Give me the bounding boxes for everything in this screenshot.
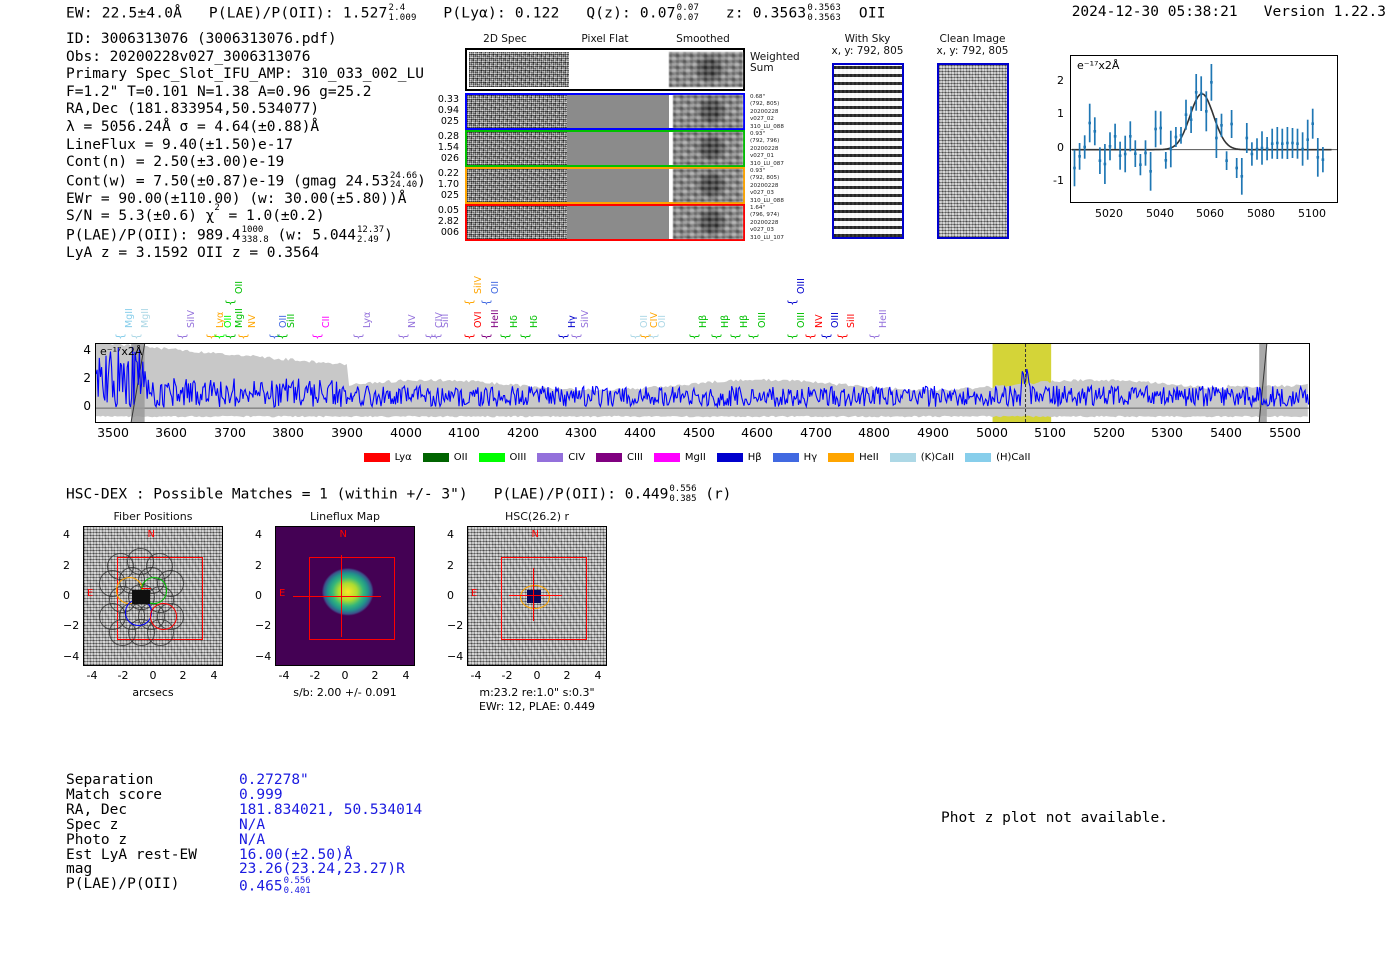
- legend-label: OIII: [510, 452, 527, 463]
- ws-pixelflat-image: [572, 50, 667, 89]
- spectrum-x-tick: 5400: [1210, 425, 1242, 440]
- fiber-num: 025: [425, 116, 459, 127]
- panel-x-tick: 4: [595, 669, 602, 682]
- panel-title: Lineflux Map: [275, 510, 415, 523]
- z-class: OII: [859, 6, 886, 22]
- table-row: Est LyA rest-EW16.00(±2.50)Å: [66, 848, 422, 863]
- line-marker-brace: {: [557, 333, 570, 340]
- fiber-weight: 0.33: [425, 94, 459, 105]
- spectrum-x-tick: 3800: [272, 425, 304, 440]
- fiber-meta-line: 310_LU_107: [750, 235, 810, 242]
- col-header-2dspec: 2D Spec: [460, 33, 550, 45]
- legend-swatch: [965, 453, 991, 462]
- fiber-smoothed-image: [673, 169, 743, 202]
- info-cont-w: Cont(w) = 7.50(±0.87)e-19 (gmag 24.5324.…: [66, 172, 426, 191]
- legend-item: OII: [423, 452, 468, 463]
- fiber-meta-line: 310_LU_088: [750, 198, 810, 205]
- plae-poii-value: 1.527: [343, 6, 388, 22]
- line-marker-label: CII: [321, 316, 332, 328]
- fiber-2dspec-image: [467, 132, 567, 165]
- qz-range: 0.070.07: [677, 4, 699, 23]
- panel-x-tick: -4: [279, 669, 290, 682]
- spectrum-x-tick: 4100: [448, 425, 480, 440]
- fiber-pixelflat-image: [567, 95, 669, 128]
- match-key: Match score: [66, 788, 197, 803]
- line-marker-label: Lyα: [362, 312, 373, 328]
- legend-swatch: [423, 453, 449, 462]
- line-marker-label: SiII: [846, 314, 857, 328]
- qz-value: 0.07: [640, 6, 676, 22]
- line-marker-brace: {: [747, 333, 760, 340]
- legend-item: CIV: [537, 452, 585, 463]
- line-marker-brace: {: [647, 333, 660, 340]
- compass-east: E: [87, 588, 93, 599]
- spectrum-x-tick: 4600: [741, 425, 773, 440]
- spectrum-xticks: 3500360037003800390040004100420043004400…: [95, 425, 1310, 443]
- cutout-panel: With Skyx, y: 792, 805: [820, 33, 915, 57]
- spectrum-x-tick: 5000: [976, 425, 1008, 440]
- line-marker-label: Hβ: [720, 315, 731, 328]
- match-key: Est LyA rest-EW: [66, 848, 197, 863]
- sky-image-panel: Lineflux MapNE-4−4-2−2002244s/b: 2.00 +/…: [247, 510, 427, 523]
- crosshair-h: [509, 595, 561, 596]
- info-primary-spec: Primary Spec_Slot_IFU_AMP: 310_033_002_L…: [66, 66, 426, 84]
- fiber-smoothed-image: [673, 206, 743, 239]
- hscdex-plae-range: 0.5560.385: [669, 485, 696, 504]
- match-value: 0.4650.5560.401: [197, 877, 422, 896]
- fiber-smoothed-image: [673, 95, 743, 128]
- line-marker-brace: {: [237, 333, 250, 340]
- line-zoom-axes: e⁻¹⁷x2Å: [1070, 55, 1338, 203]
- fiber-weight: 0.28: [425, 131, 459, 142]
- legend-swatch: [537, 453, 563, 462]
- x-tick-label: 5020: [1095, 207, 1123, 220]
- panel-x-tick: -4: [471, 669, 482, 682]
- legend-label: Hγ: [804, 452, 817, 463]
- y-tick-label: 1: [1057, 107, 1064, 120]
- line-marker-brace: {: [519, 333, 532, 340]
- panel-y-tick: −2: [63, 619, 79, 632]
- info-lambda-sigma: λ = 5056.24Å σ = 4.64(±0.88)Å: [66, 119, 426, 137]
- line-marker-label: MgII: [234, 308, 245, 328]
- line-marker-label: SiII: [440, 314, 451, 328]
- spectrum-x-tick: 4500: [683, 425, 715, 440]
- compass-north: N: [531, 529, 538, 540]
- line-marker-brace: {: [430, 333, 443, 340]
- line-marker-label: OII: [223, 315, 234, 328]
- line-marker-brace: {: [820, 333, 833, 340]
- match-key: RA, Dec: [66, 803, 197, 818]
- line-marker-brace: {: [710, 333, 723, 340]
- legend-swatch: [890, 453, 916, 462]
- panel-x-tick: 0: [342, 669, 349, 682]
- fiber-meta-line: (792, 805): [750, 175, 810, 182]
- spectrum-x-tick: 4300: [565, 425, 597, 440]
- legend-item: Hγ: [773, 452, 817, 463]
- line-zoom-svg: [1071, 56, 1337, 202]
- line-marker-label: OIII: [757, 312, 768, 328]
- fiber-meta-line: (796, 974): [750, 212, 810, 219]
- line-marker-brace: {: [804, 333, 817, 340]
- sky-image-panel: Fiber PositionsNE-4−4-2−2002244arcsecs: [55, 510, 235, 523]
- source-blob: [527, 590, 541, 602]
- y-tick-label: -1: [1053, 174, 1064, 187]
- compass-east: E: [279, 588, 285, 599]
- cutout-panels: With Skyx, y: 792, 805Clean Imagex, y: 7…: [820, 33, 1030, 248]
- panel-x-tick: -2: [118, 669, 129, 682]
- hscdex-plae-label: P(LAE)/P(OII):: [494, 487, 616, 503]
- spectrum-x-tick: 5200: [1093, 425, 1125, 440]
- image-panels: Fiber PositionsNE-4−4-2−2002244arcsecsLi…: [55, 510, 635, 725]
- spectrum-x-tick: 4000: [390, 425, 422, 440]
- line-marker-label: SiII: [286, 314, 297, 328]
- ws-2dspec-image: [469, 52, 569, 87]
- legend-label: MgII: [685, 452, 706, 463]
- fiber-meta-line: 1.64": [750, 205, 810, 212]
- match-key: P(LAE)/P(OII): [66, 877, 197, 896]
- spectrum-x-tick: 3700: [214, 425, 246, 440]
- legend-item: Lyα: [364, 452, 412, 463]
- match-value: N/A: [197, 818, 422, 833]
- fiber-row: [465, 167, 745, 204]
- line-marker-label: OIII: [796, 312, 807, 328]
- line-marker-brace: {: [397, 333, 410, 340]
- line-marker-label: OVI: [473, 311, 484, 328]
- fiber-2dspec-image: [467, 169, 567, 202]
- spectrum-x-tick: 3500: [97, 425, 129, 440]
- info-id: ID: 3006313076 (3006313076.pdf): [66, 31, 426, 49]
- info-sn-chi2: S/N = 5.3(±0.6) χ2 = 1.0(±0.2): [66, 208, 426, 226]
- panel-axes: NE: [467, 526, 607, 666]
- legend-swatch: [717, 453, 743, 462]
- legend-label: Lyα: [395, 452, 412, 463]
- fiber-meta-line: v027_03: [750, 227, 810, 234]
- spectrum-x-tick: 3900: [331, 425, 363, 440]
- table-row: Spec zN/A: [66, 818, 422, 833]
- table-row: Match score0.999: [66, 788, 422, 803]
- spectrum-x-tick: 5500: [1269, 425, 1301, 440]
- match-key: Photo z: [66, 833, 197, 848]
- full-spectrum-panel: {MgII{MgII{SiIV{Lyα{OII{MgII{OII{NV{OII{…: [95, 275, 1310, 470]
- legend-swatch: [654, 453, 680, 462]
- legend-swatch: [773, 453, 799, 462]
- fiber-meta-line: 310_LU_087: [750, 161, 810, 168]
- legend-label: CIII: [627, 452, 643, 463]
- z-label: z:: [726, 6, 744, 22]
- panel-x-tick: 2: [564, 669, 571, 682]
- fiber-weights: 0.221.70025: [425, 168, 459, 201]
- spectrum-y-tick: 4: [83, 343, 91, 357]
- panel-y-tick: 0: [255, 589, 262, 602]
- version-label: Version 1.22.3: [1264, 4, 1386, 20]
- line-marker-label: OII: [657, 315, 668, 328]
- fiber-flux: 1.54: [425, 142, 459, 153]
- line-marker-label: OIII: [830, 312, 841, 328]
- line-zoom-yticks: -1012: [1040, 55, 1068, 203]
- panel-y-tick: −2: [447, 619, 463, 632]
- fiber-2dspec-image: [467, 95, 567, 128]
- fiber-flux: 1.70: [425, 179, 459, 190]
- z-range: 0.35630.3563: [807, 4, 841, 23]
- match-table: Separation0.27278"Match score0.999RA, De…: [66, 773, 422, 896]
- fiber-meta-line: 20200228: [750, 183, 810, 190]
- fiber-meta-line: v027_03: [750, 190, 810, 197]
- fiber-num: 025: [425, 190, 459, 201]
- info-params: F=1.2" T=0.101 N=1.38 A=0.96 g=25.2: [66, 84, 426, 102]
- line-marker-label: SiIV: [186, 310, 197, 328]
- line-marker-label: SiIV: [580, 310, 591, 328]
- match-value: 16.00(±2.50)Å: [197, 848, 422, 863]
- spectrum-x-tick: 4400: [624, 425, 656, 440]
- fiber-weight: 0.22: [425, 168, 459, 179]
- plae-poii-range: 2.41.009: [389, 4, 417, 23]
- fiber-flux: 0.94: [425, 105, 459, 116]
- line-marker-label: MgII: [124, 308, 135, 328]
- line-marker-brace: {: [176, 333, 189, 340]
- line-marker-label: MgII: [140, 308, 151, 328]
- line-marker-brace: {: [463, 333, 476, 340]
- line-marker-label: NV: [814, 314, 825, 328]
- fiber-meta-line: v027_01: [750, 153, 810, 160]
- line-marker-brace: {: [570, 333, 583, 340]
- panel-x-tick: 0: [150, 669, 157, 682]
- fiber-meta-line: 0.93": [750, 168, 810, 175]
- line-zoom-plot: e⁻¹⁷x2Å -1012 50205040506050805100: [1040, 55, 1340, 227]
- fiber-weights: 0.281.54026: [425, 131, 459, 164]
- spectrum-axes: e⁻¹⁷x2Å: [95, 343, 1310, 423]
- fiber-flux: 2.82: [425, 216, 459, 227]
- cutout-subtitle: x, y: 792, 805: [925, 45, 1020, 57]
- line-marker-brace: {: [786, 299, 799, 306]
- panel-x-tick: 2: [180, 669, 187, 682]
- table-row: mag23.26(23.24,23.27)R: [66, 862, 422, 877]
- line-marker-label: NV: [407, 314, 418, 328]
- legend-label: OII: [454, 452, 468, 463]
- match-value: 181.834021, 50.534014: [197, 803, 422, 818]
- crosshair-h: [141, 588, 151, 589]
- legend-item: (H)CaII: [965, 452, 1030, 463]
- z-value: 0.3563: [753, 6, 807, 22]
- fiber-metadata: 0.93"(792, 805)20200228v027_03310_LU_088: [750, 168, 810, 205]
- line-marker-label: OII: [234, 281, 245, 294]
- x-tick-label: 5080: [1247, 207, 1275, 220]
- spectrum-x-tick: 4700: [800, 425, 832, 440]
- fiber-2dspec-image: [467, 206, 567, 239]
- spectrum-x-tick: 4900: [917, 425, 949, 440]
- legend-label: (K)CaII: [921, 452, 954, 463]
- info-redshifts: LyA z = 3.1592 OII z = 0.3564: [66, 245, 426, 263]
- table-row: Photo zN/A: [66, 833, 422, 848]
- fiber-meta-line: 310_LU_088: [750, 124, 810, 131]
- y-tick-label: 2: [1057, 74, 1064, 87]
- plya-label: P(Lyα):: [443, 6, 506, 22]
- panel-y-tick: −4: [447, 650, 463, 663]
- legend-item: HeII: [828, 452, 879, 463]
- panel-xlabel: s/b: 2.00 +/- 0.091: [275, 686, 415, 699]
- line-marker-label: Hδ: [529, 315, 540, 328]
- legend-item: OIII: [479, 452, 527, 463]
- panel-y-tick: 2: [447, 559, 454, 572]
- cutout-title: Clean Image: [925, 33, 1020, 45]
- spectrum-x-tick: 5100: [1034, 425, 1066, 440]
- line-marker-brace: {: [480, 333, 493, 340]
- info-radec: RA,Dec (181.833954,50.534077): [66, 101, 426, 119]
- photz-note: Phot z plot not available.: [941, 810, 1168, 826]
- x-tick-label: 5040: [1146, 207, 1174, 220]
- summary-line: EW: 22.5±4.0Å P(LAE)/P(OII): 1.5272.41.0…: [66, 4, 886, 23]
- panel-x-tick: 0: [534, 669, 541, 682]
- line-marker-brace: {: [688, 333, 701, 340]
- line-zoom-xticks: 50205040506050805100: [1070, 205, 1338, 225]
- fiber-pixelflat-image: [567, 132, 669, 165]
- legend-swatch: [828, 453, 854, 462]
- legend-swatch: [479, 453, 505, 462]
- table-row: RA, Dec181.834021, 50.534014: [66, 803, 422, 818]
- table-row: P(LAE)/P(OII)0.4650.5560.401: [66, 877, 422, 896]
- match-key: mag: [66, 862, 197, 877]
- fiber-weights: 0.052.82006: [425, 205, 459, 238]
- fiber-smoothed-image: [673, 132, 743, 165]
- line-marker-brace: {: [836, 333, 849, 340]
- legend-item: MgII: [654, 452, 706, 463]
- fiber-weight: 0.05: [425, 205, 459, 216]
- match-key: Spec z: [66, 818, 197, 833]
- qz-label: Q(z):: [586, 6, 631, 22]
- source-info-block: ID: 3006313076 (3006313076.pdf) Obs: 202…: [66, 31, 426, 263]
- panel-y-tick: 2: [255, 559, 262, 572]
- cutout-panel: Clean Imagex, y: 792, 805: [925, 33, 1020, 57]
- timestamp: 2024-12-30 05:38:21: [1072, 4, 1238, 20]
- spectrum-x-tick: 5300: [1151, 425, 1183, 440]
- line-marker-brace: {: [352, 333, 365, 340]
- fiber-meta-line: v027_02: [750, 116, 810, 123]
- fiber-meta-line: 0.93": [750, 131, 810, 138]
- legend-label: HeII: [859, 452, 879, 463]
- panel-y-tick: −4: [255, 650, 271, 663]
- panel-y-tick: −4: [63, 650, 79, 663]
- panel-title: HSC(26.2) r: [467, 510, 607, 523]
- hscdex-plae-band: (r): [705, 487, 731, 503]
- aperture-box: [309, 557, 395, 640]
- cutout-image: [832, 63, 904, 239]
- legend-label: (H)CaII: [996, 452, 1030, 463]
- match-value: 0.999: [197, 788, 422, 803]
- panel-x-tick: -2: [502, 669, 513, 682]
- line-marker-label: Hγ: [567, 315, 578, 328]
- panel-y-tick: 4: [63, 528, 70, 541]
- spectrum-y-tick: 2: [83, 371, 91, 385]
- line-marker-label: HeII: [878, 309, 889, 328]
- legend-swatch: [596, 453, 622, 462]
- legend-swatch: [364, 453, 390, 462]
- line-marker-brace: {: [786, 333, 799, 340]
- fiber-rows: 0.330.940250.68"(792, 805)20200228v027_0…: [465, 93, 755, 243]
- line-marker-brace: {: [480, 299, 493, 306]
- line-marker-brace: {: [224, 299, 237, 306]
- fiber-pixelflat-image: [567, 169, 669, 202]
- legend-item: (K)CaII: [890, 452, 954, 463]
- panel-x-tick: -2: [310, 669, 321, 682]
- plae-poii-label: P(LAE)/P(OII):: [209, 6, 334, 22]
- hscdex-plae-value: 0.449: [625, 487, 669, 503]
- info-plae-poii: P(LAE)/P(OII): 989.41000338.8 (w: 5.0441…: [66, 226, 426, 245]
- plya-value: 0.122: [515, 6, 560, 22]
- line-marker-brace: {: [114, 333, 127, 340]
- panel-y-tick: 4: [447, 528, 454, 541]
- crosshair-v: [341, 555, 342, 638]
- match-value: N/A: [197, 833, 422, 848]
- info-lineflux: LineFlux = 9.40(±1.50)e-17: [66, 137, 426, 155]
- line-marker-label: HeII: [490, 309, 501, 328]
- spectrum-svg: [96, 344, 1309, 422]
- hscdex-headline: HSC-DEX : Possible Matches = 1 (within +…: [66, 485, 731, 504]
- panel-sublabel: EWr: 12, PLAE: 0.449: [459, 700, 615, 713]
- legend-item: Hβ: [717, 452, 762, 463]
- line-marker-brace: {: [311, 333, 324, 340]
- line-marker-label: NV: [247, 314, 258, 328]
- match-key: Separation: [66, 773, 197, 788]
- fiber-metadata: 0.93"(792, 796)20200228v027_01310_LU_087: [750, 131, 810, 168]
- fiber-meta-line: 20200228: [750, 109, 810, 116]
- panel-y-tick: 2: [63, 559, 70, 572]
- info-ewr: EWr = 90.00(±110.00) (w: 30.00(±5.80))Å: [66, 191, 426, 209]
- line-marker-label: OIII: [796, 278, 807, 294]
- panel-x-tick: -4: [87, 669, 98, 682]
- fiber-meta-line: 20200228: [750, 146, 810, 153]
- spectrum-x-tick: 3600: [155, 425, 187, 440]
- cutout-title: With Sky: [820, 33, 915, 45]
- panel-x-tick: 2: [372, 669, 379, 682]
- compass-north: N: [339, 529, 346, 540]
- line-marker-label: Hβ: [739, 315, 750, 328]
- spectrum-y-tick: 0: [83, 399, 91, 413]
- table-row: Separation0.27278": [66, 773, 422, 788]
- fiber-weights: 0.330.94025: [425, 94, 459, 127]
- fiber-meta-line: (792, 805): [750, 101, 810, 108]
- legend-item: CIII: [596, 452, 643, 463]
- weighted-sum-label: Weighted Sum: [750, 52, 800, 74]
- panel-y-tick: −2: [255, 619, 271, 632]
- legend-label: Hβ: [748, 452, 762, 463]
- timestamp-version: 2024-12-30 05:38:21 Version 1.22.3: [1072, 4, 1386, 20]
- cutout-image: [937, 63, 1009, 239]
- panel-x-tick: 4: [211, 669, 218, 682]
- sky-image-panel: HSC(26.2) rNE-4−4-2−2002244m:23.2 re:1.0…: [439, 510, 619, 523]
- fiber-circle-red: [150, 603, 177, 630]
- compass-north: N: [147, 529, 154, 540]
- legend-label: CIV: [568, 452, 585, 463]
- panel-axes: NE: [275, 526, 415, 666]
- line-marker-brace: {: [130, 333, 143, 340]
- emission-line-markers: {MgII{MgII{SiIV{Lyα{OII{MgII{OII{NV{OII{…: [95, 275, 1310, 343]
- line-marker-brace: {: [224, 333, 237, 340]
- fiber-pixelflat-image: [567, 206, 669, 239]
- spectrum-legend: LyαOIIOIIICIVCIIIMgIIHβHγHeII(K)CaII(H)C…: [95, 447, 1310, 466]
- info-obs: Obs: 20200228v027_3006313076: [66, 49, 426, 67]
- match-value: 23.26(23.24,23.27)R: [197, 862, 422, 877]
- spectrum-x-tick: 4800: [858, 425, 890, 440]
- info-cont-n: Cont(n) = 2.50(±3.00)e-19: [66, 154, 426, 172]
- line-marker-label: SiIV: [473, 276, 484, 294]
- panel-y-tick: 0: [63, 589, 70, 602]
- x-tick-label: 5100: [1298, 207, 1326, 220]
- ws-smoothed-image: [669, 52, 743, 87]
- crosshair-h: [293, 596, 381, 597]
- fiber-num: 026: [425, 153, 459, 164]
- x-tick-label: 5060: [1196, 207, 1224, 220]
- hscdex-matches-text: HSC-DEX : Possible Matches = 1 (within +…: [66, 487, 468, 503]
- fiber-metadata: 0.68"(792, 805)20200228v027_02310_LU_088: [750, 94, 810, 131]
